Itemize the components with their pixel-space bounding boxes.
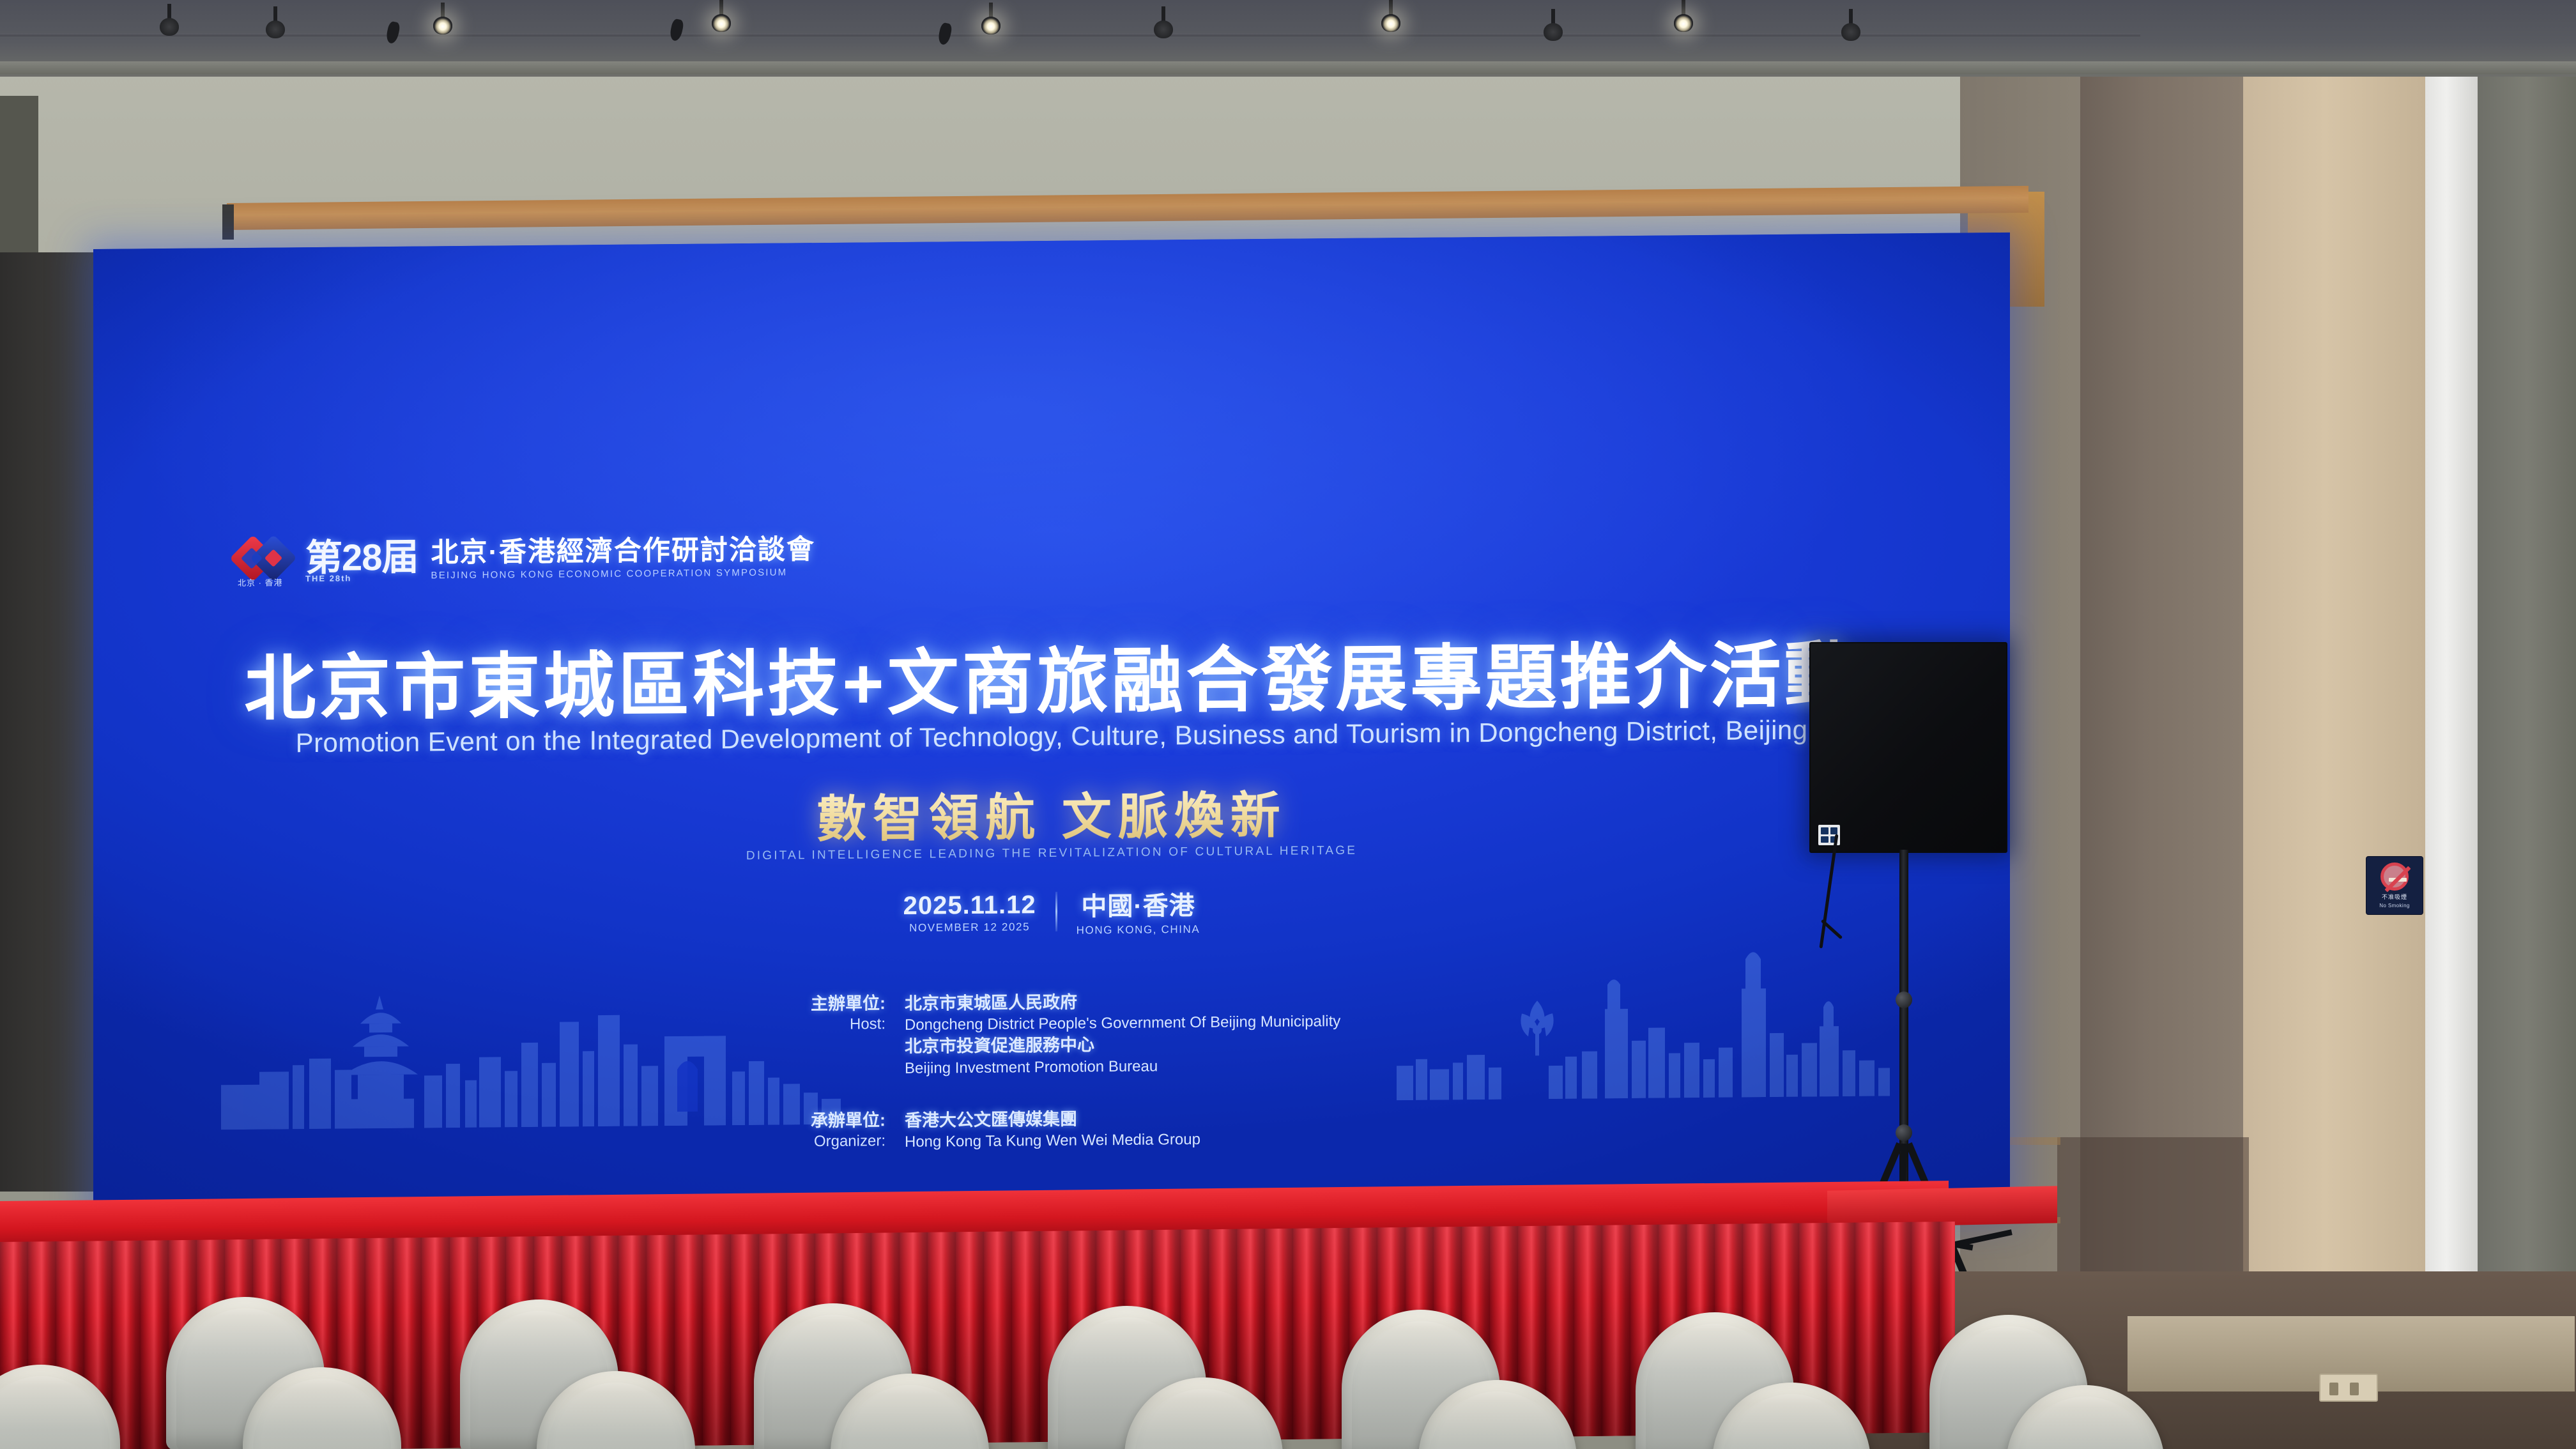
credit-host-value-cn-1: 北京市東城區人民政府 [905, 989, 1340, 1015]
screen-valance-cap [222, 204, 234, 240]
wall-column-far [2478, 0, 2576, 1449]
ceiling-spotlight-icon [710, 0, 732, 32]
ceiling-spotlight-icon [1153, 6, 1174, 38]
left-wall-upper [0, 96, 38, 256]
event-date: 2025.11.12 NOVEMBER 12 2025 [903, 891, 1036, 935]
event-date-en: NOVEMBER 12 2025 [903, 921, 1036, 935]
symposium-name-cn: 北京·香港經濟合作研討洽談會 [431, 536, 815, 568]
left-wall-dark-panel [0, 252, 97, 1192]
symposium-logo-mark-icon: 北京 · 香港 [235, 536, 296, 586]
credit-organizer: 承辦單位: Organizer: 香港大公文匯傳媒集團 Hong Kong Ta… [790, 1106, 1340, 1154]
no-smoking-label-cn: 不准吸煙 [2382, 893, 2407, 901]
credit-organizer-label-en: Organizer: [790, 1131, 885, 1151]
credit-host-label-cn: 主辦單位: [790, 993, 885, 1015]
ceiling-spotlight-icon [158, 4, 180, 36]
event-date-cn: 2025.11.12 [903, 891, 1036, 921]
event-location-en: HONG KONG, CHINA [1077, 923, 1200, 937]
no-smoking-icon [2380, 862, 2409, 891]
ceiling-spotlight-icon [980, 3, 1002, 34]
credit-organizer-label-cn: 承辦單位: [790, 1110, 885, 1132]
ceiling-spotlight-icon [1542, 9, 1564, 41]
symposium-name-en: BEIJING HONG KONG ECONOMIC COOPERATION S… [431, 567, 815, 581]
event-location-cn: 中國·香港 [1077, 885, 1200, 923]
speaker-stand-knob [1896, 992, 1912, 1008]
no-smoking-label-en: No Smoking [2379, 903, 2410, 908]
event-credits: 主辦單位: Host: 北京市東城區人民政府 Dongcheng Distric… [790, 989, 1340, 1159]
ceiling-spotlight-icon [264, 6, 286, 38]
ceiling-cornice [0, 61, 2576, 74]
ceiling-spotlight-icon [432, 3, 454, 34]
credit-organizer-value-en: Hong Kong Ta Kung Wen Wei Media Group [905, 1130, 1200, 1153]
power-outlet [2319, 1374, 2378, 1402]
credit-organizer-value-cn: 香港大公文匯傳媒集團 [905, 1107, 1200, 1132]
ceiling-spotlight-icon [1840, 9, 1862, 41]
edition-ordinal-cn: 第28届 [305, 536, 418, 579]
symposium-logo: 北京 · 香港 第28届 THE 28th 北京·香港經濟合作研討洽談會 BEI… [235, 532, 815, 586]
speaker-stand-knob [1896, 1124, 1912, 1141]
wall-column-tan [2243, 16, 2425, 1370]
credit-host-value-en-1: Dongcheng District People's Government O… [905, 1011, 1340, 1036]
wall-column-white [2425, 0, 2478, 1449]
no-smoking-sign: 不准吸煙 No Smoking [2366, 856, 2423, 915]
led-backdrop-screen: 北京 · 香港 第28届 THE 28th 北京·香港經濟合作研討洽談會 BEI… [93, 233, 2010, 1227]
credit-host-label-en: Host: [790, 1015, 885, 1034]
edition-ordinal: 第28届 THE 28th [305, 539, 418, 583]
ceiling-spotlight-icon [1380, 0, 1402, 32]
credit-host: 主辦單位: Host: 北京市東城區人民政府 Dongcheng Distric… [790, 989, 1340, 1080]
credit-host-value-en-2: Beijing Investment Promotion Bureau [905, 1055, 1340, 1079]
ceiling-spotlight-icon [1673, 0, 1694, 32]
wall-panel-upper [2057, 1137, 2249, 1271]
event-location: 中國·香港 HONG KONG, CHINA [1077, 885, 1200, 937]
credit-host-value-cn-2: 北京市投資促進服務中心 [905, 1032, 1340, 1058]
date-location-divider [1055, 892, 1057, 931]
lighting-track [0, 33, 2140, 36]
pa-speaker [1809, 642, 2007, 853]
scene-root: 北京 · 香港 第28届 THE 28th 北京·香港經濟合作研討洽談會 BEI… [0, 0, 2576, 1449]
logo-subtext: 北京 · 香港 [238, 576, 283, 588]
